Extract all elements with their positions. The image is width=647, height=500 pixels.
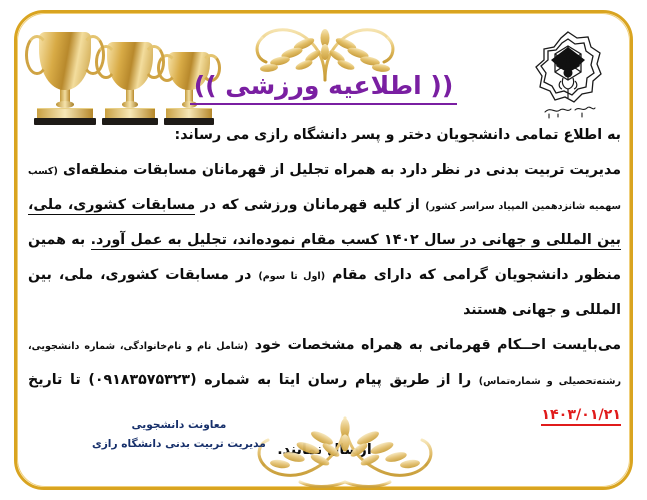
body-lead-line: به اطلاع تمامی دانشجویان دختر و پسر دانش… [28, 118, 621, 153]
announcement-poster: (( اطلاعیه ورزشی )) به اطلاع تمامی دانشج… [0, 0, 647, 500]
page-title: (( اطلاعیه ورزشی )) [190, 72, 458, 105]
contact-phone-number: (۰۹۱۸۳۵۷۵۳۲۳) [88, 372, 196, 388]
deadline-date: ۱۴۰۳/۰۱/۲۱ [541, 407, 621, 426]
signature-line-1: معاونت دانشجویی [92, 416, 266, 435]
para2-segment-c: تا تاریخ [28, 372, 88, 388]
para1-segment-b: از کلیه قهرمانان ورزشی که در [195, 197, 425, 213]
para1-segment-a: مدیریت تربیت بدنی در نظر دارد به همراه ت… [58, 162, 621, 178]
body-paragraph-1: مدیریت تربیت بدنی در نظر دارد به همراه ت… [28, 153, 621, 328]
para2-segment-a: می‌بایست احــکام قهرمانی به همراه مشخصات… [248, 337, 621, 353]
lead-text: به اطلاع تمامی دانشجویان دختر و پسر دانش… [175, 127, 621, 143]
signature-line-2: مدیریت تربیت بدنی دانشگاه رازی [92, 435, 266, 454]
poster-title-wrap: (( اطلاعیه ورزشی )) [0, 72, 647, 105]
para1-note-rank: (اول تا سوم) [258, 271, 325, 282]
footer-signature: معاونت دانشجویی مدیریت تربیت بدنی دانشگا… [92, 416, 266, 454]
para2-segment-b: را از طریق پیام رسان ایتا به شماره [197, 372, 479, 388]
